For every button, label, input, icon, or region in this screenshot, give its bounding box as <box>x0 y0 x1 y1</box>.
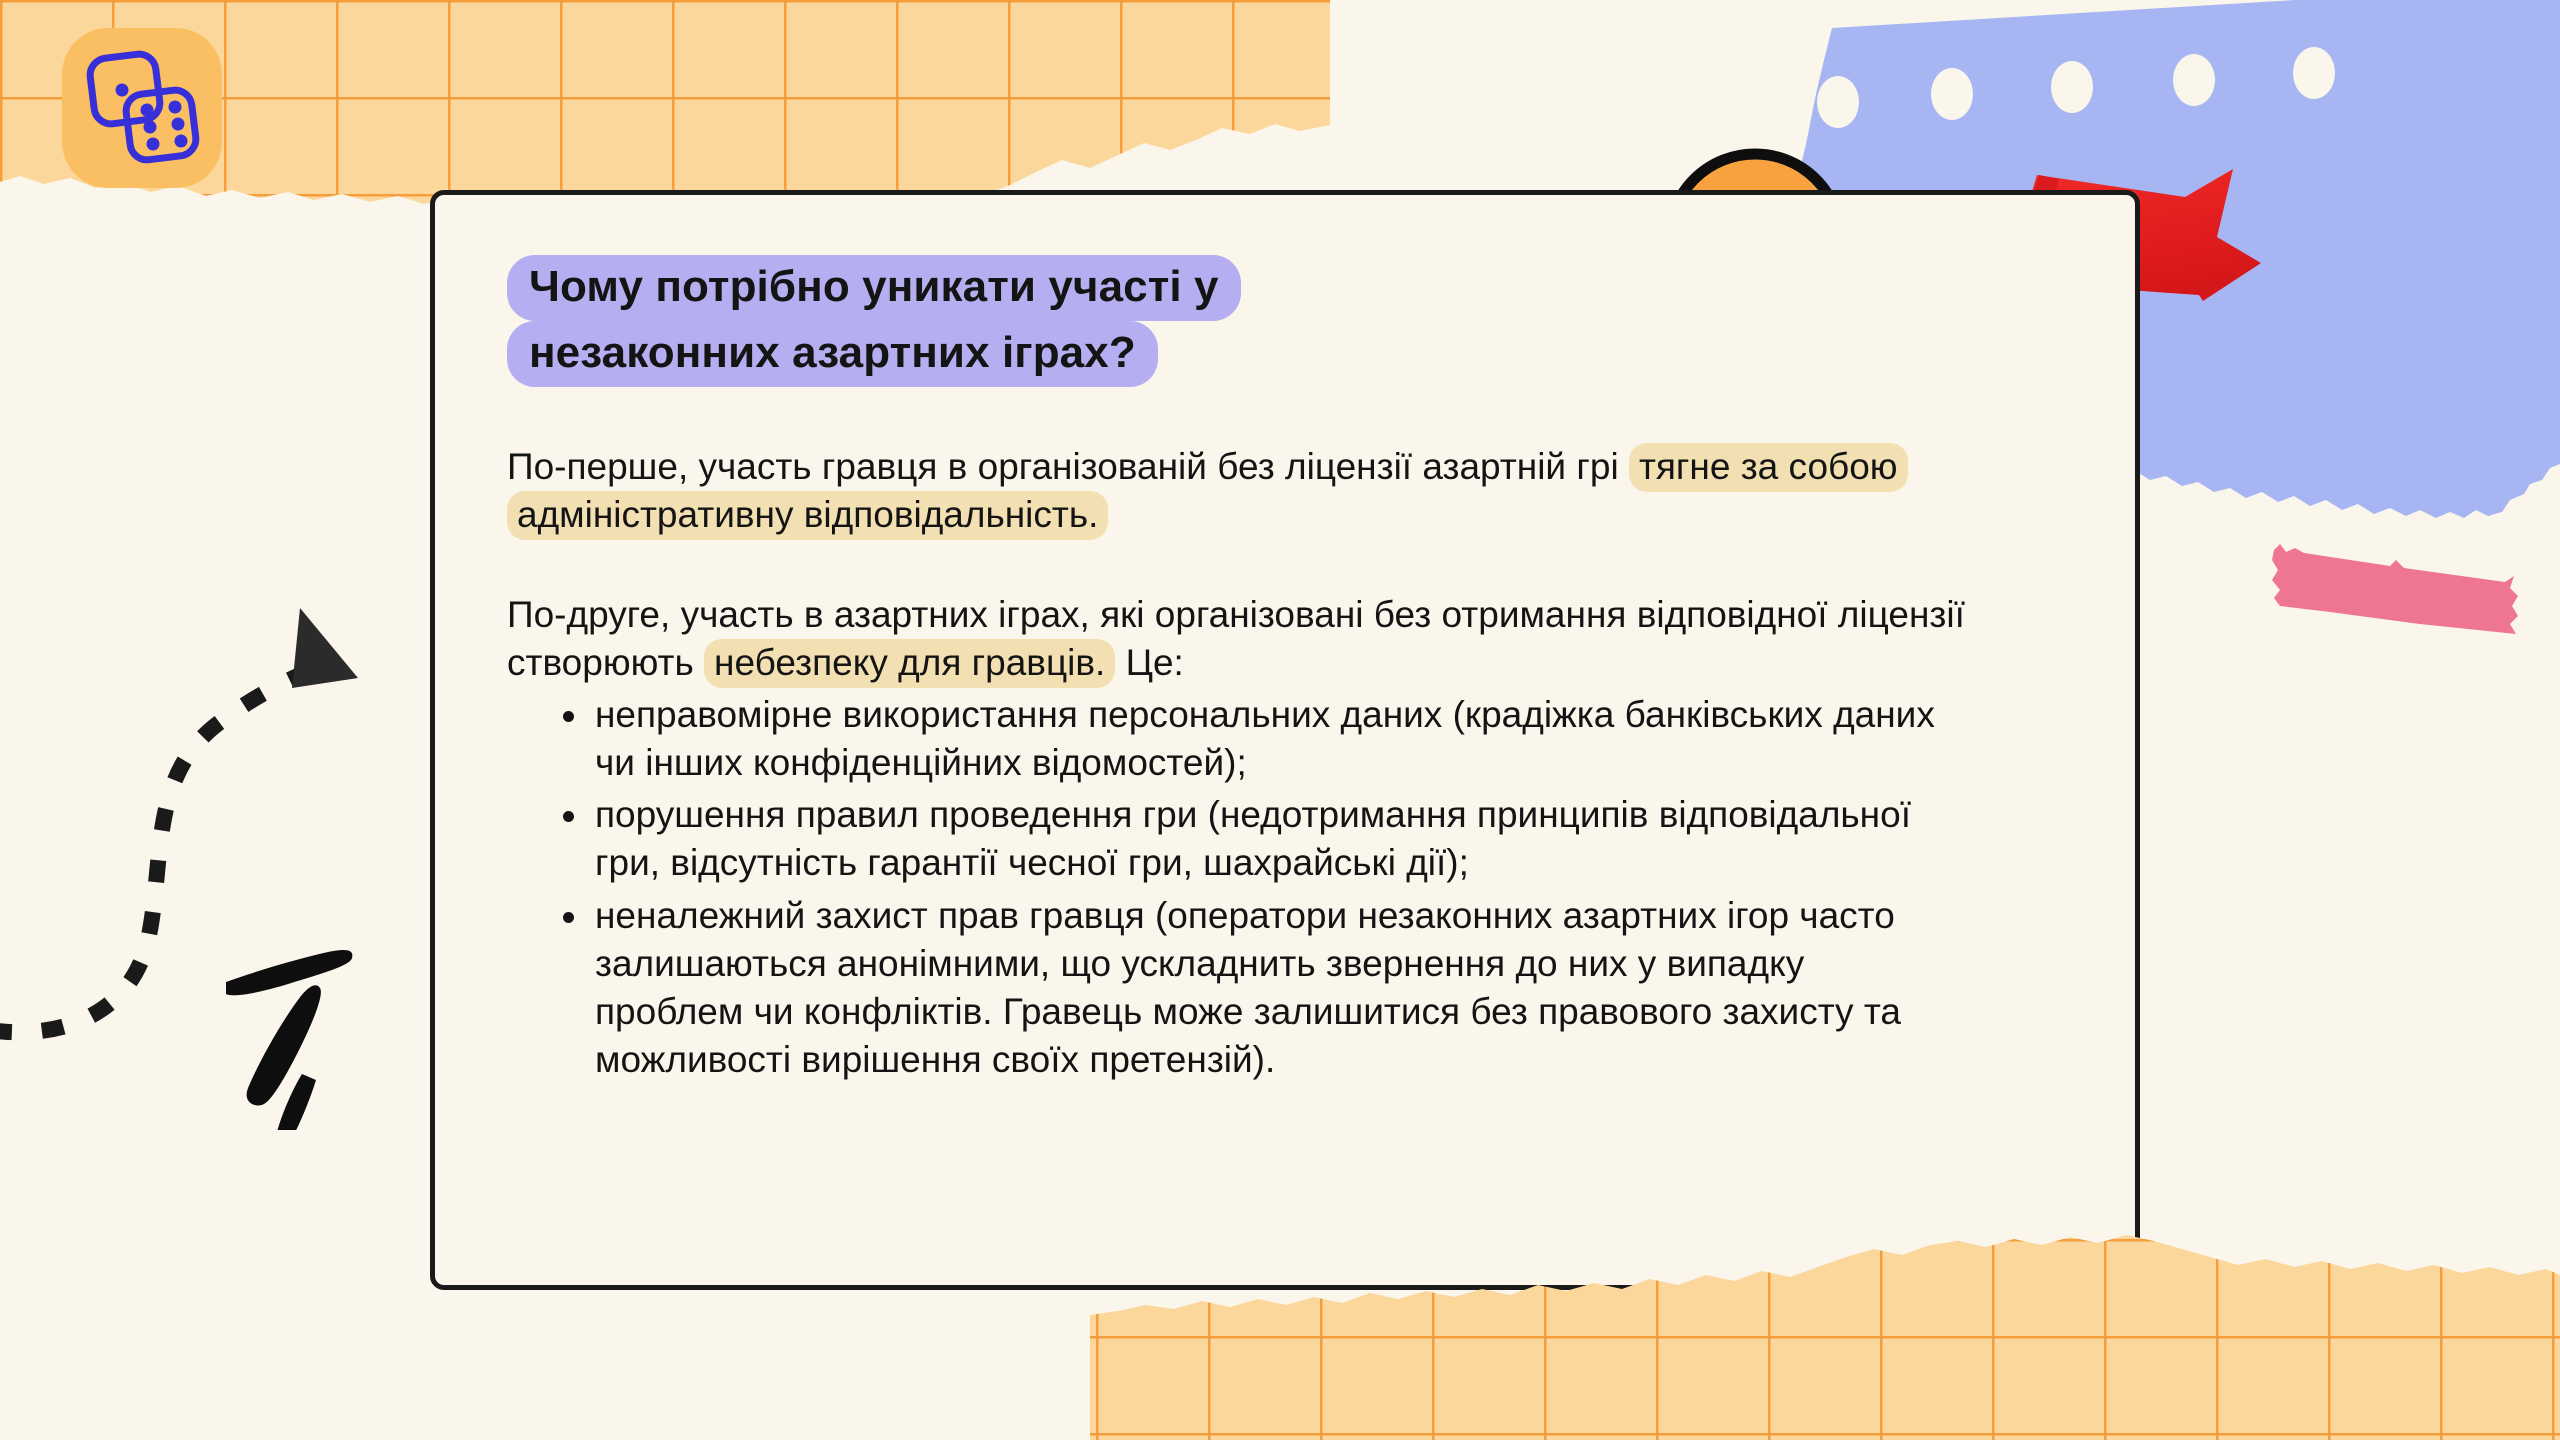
title-line-2: незаконних азартних іграх? <box>507 321 1158 387</box>
list-item: порушення правил проведення гри (недотри… <box>555 791 1945 887</box>
paragraph-second-highlight: небезпеку для гравців. <box>704 639 1115 688</box>
list-item: неправомірне використання персональних д… <box>555 691 1945 787</box>
paragraph-first: По-перше, участь гравця в організованій … <box>507 443 1967 539</box>
dice-badge <box>62 28 222 188</box>
dice-icon <box>62 28 222 188</box>
list-item: неналежний захист прав гравця (оператори… <box>555 892 1945 1084</box>
title-line-1: Чому потрібно уникати участі у <box>507 255 1241 321</box>
infographic-canvas: Чому потрібно уникати участі у незаконни… <box>0 0 2560 1440</box>
brush-stroke-1 <box>226 950 352 995</box>
risk-list: неправомірне використання персональних д… <box>555 691 1945 1084</box>
arrowhead-icon <box>292 608 358 688</box>
paragraph-first-plain: По-перше, участь гравця в організованій … <box>507 446 1629 487</box>
grid-paper-torn-bottom-right <box>1090 1235 2560 1440</box>
paragraph-second-plain-b: Це: <box>1115 642 1184 683</box>
paragraph-second: По-друге, участь в азартних іграх, які о… <box>507 591 1967 687</box>
brush-stroke-3 <box>276 1074 316 1130</box>
page-title: Чому потрібно уникати участі у незаконни… <box>507 255 2075 387</box>
content-card: Чому потрібно уникати участі у незаконни… <box>430 190 2140 1290</box>
